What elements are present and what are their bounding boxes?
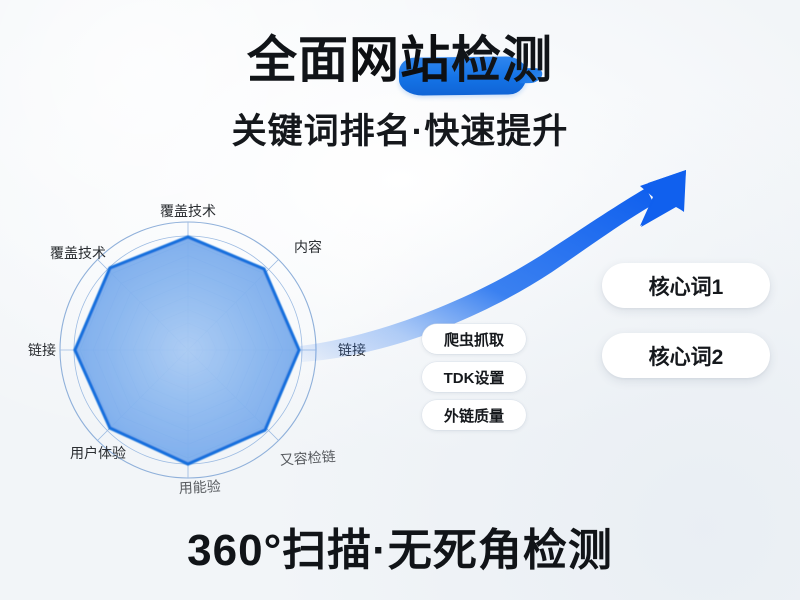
pill-backlink[interactable]: 外链质量: [422, 400, 526, 430]
axis-label-top-left: 覆盖技术: [50, 245, 106, 261]
title-part-1: 全面: [247, 32, 349, 88]
title-part-2: 检测: [451, 32, 553, 88]
poster-canvas: 全面网站检测 关键词排名·快速提升: [0, 0, 800, 600]
pill-keyword-2[interactable]: 核心词2: [602, 333, 770, 378]
axis-label-top-right: 内容: [294, 239, 322, 255]
title-part-highlight: 网站: [349, 32, 451, 88]
pill-keyword-2-label: 核心词2: [649, 341, 724, 371]
title-block: 全面网站检测 关键词排名·快速提升: [0, 34, 800, 154]
page-title: 全面网站检测: [247, 34, 553, 87]
axis-label-left: 链接: [28, 342, 56, 358]
pill-backlink-label: 外链质量: [444, 405, 504, 426]
bottom-tagline: 360°扫描·无死角检测: [0, 514, 800, 578]
pill-crawl[interactable]: 爬虫抓取: [422, 324, 526, 354]
pill-tdk-label: TDK设置: [444, 367, 505, 388]
radar-chart: 覆盖技术 内容 链接 又容检链 用能验 用户体验 链接 覆盖技术: [20, 190, 420, 510]
pill-keyword-1[interactable]: 核心词1: [602, 263, 770, 308]
axis-label-right: 链接: [338, 342, 366, 358]
pill-keyword-1-label: 核心词1: [649, 271, 724, 301]
axis-label-bottom-right: 又容检链: [279, 448, 336, 468]
axis-label-bottom-left: 用户体验: [70, 445, 126, 461]
page-subtitle: 关键词排名·快速提升: [0, 103, 800, 154]
radar-chart-svg: 覆盖技术 内容 链接 又容检链 用能验 用户体验 链接 覆盖技术: [20, 190, 420, 510]
pill-crawl-label: 爬虫抓取: [444, 329, 504, 350]
axis-label-bottom: 用能验: [178, 478, 221, 496]
pill-tdk[interactable]: TDK设置: [422, 362, 526, 392]
axis-label-top: 覆盖技术: [160, 203, 216, 219]
